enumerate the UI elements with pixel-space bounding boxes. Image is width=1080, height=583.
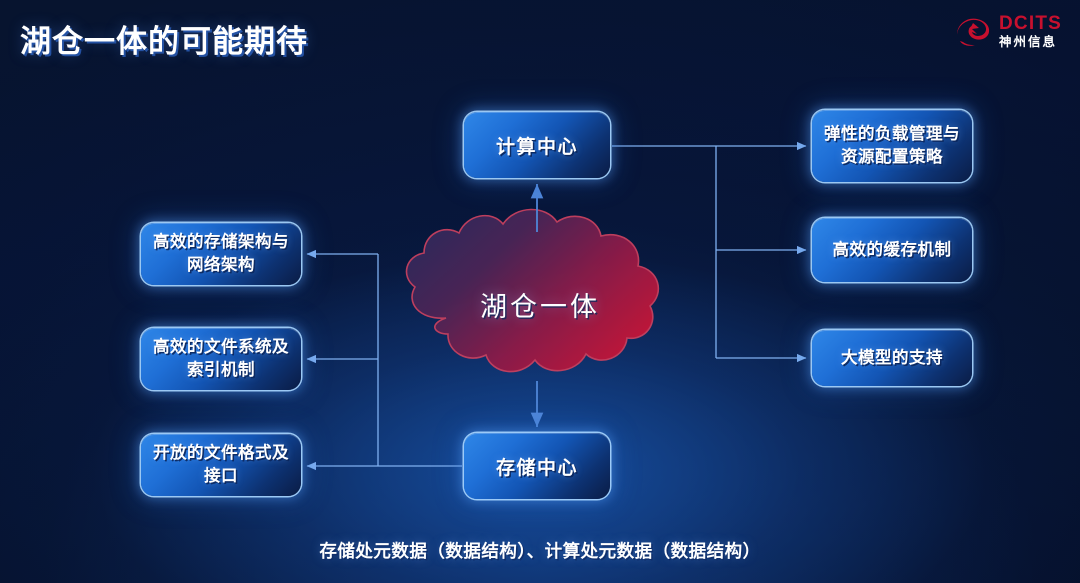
node-storage-center-label: 存储中心: [496, 453, 578, 480]
logo-cn-text: 神州信息: [999, 36, 1062, 49]
node-left-storage-architecture-label: 高效的存储架构与网络架构: [151, 231, 291, 277]
node-right-large-model-support[interactable]: 大模型的支持: [812, 330, 972, 386]
center-cloud: 湖仓一体: [404, 218, 676, 390]
node-right-cache-mechanism[interactable]: 高效的缓存机制: [812, 218, 972, 282]
node-left-file-system[interactable]: 高效的文件系统及索引机制: [141, 328, 301, 390]
node-left-open-file-format-label: 开放的文件格式及接口: [151, 442, 291, 488]
logo-brand-text: DCITS: [999, 14, 1062, 33]
company-logo: DCITS 神州信息: [953, 14, 1062, 49]
slide-canvas: 湖仓一体的可能期待 DCITS 神州信息: [0, 0, 1080, 583]
page-title: 湖仓一体的可能期待: [20, 16, 308, 61]
dcits-swoosh-icon: [953, 14, 993, 48]
node-left-storage-architecture[interactable]: 高效的存储架构与网络架构: [141, 223, 301, 285]
node-compute-center-label: 计算中心: [496, 132, 578, 159]
node-right-elastic-workload[interactable]: 弹性的负载管理与资源配置策略: [812, 110, 972, 182]
footer-caption: 存储处元数据（数据结构）、计算处元数据（数据结构）: [0, 538, 1080, 563]
node-right-cache-mechanism-label: 高效的缓存机制: [833, 239, 952, 262]
node-storage-center[interactable]: 存储中心: [464, 433, 610, 499]
node-left-file-system-label: 高效的文件系统及索引机制: [151, 336, 291, 382]
logo-wordmark: DCITS 神州信息: [999, 14, 1062, 49]
node-right-elastic-workload-label: 弹性的负载管理与资源配置策略: [822, 123, 962, 169]
node-right-large-model-support-label: 大模型的支持: [841, 347, 943, 370]
node-compute-center[interactable]: 计算中心: [464, 112, 610, 178]
center-cloud-label: 湖仓一体: [404, 218, 676, 390]
node-left-open-file-format[interactable]: 开放的文件格式及接口: [141, 434, 301, 496]
